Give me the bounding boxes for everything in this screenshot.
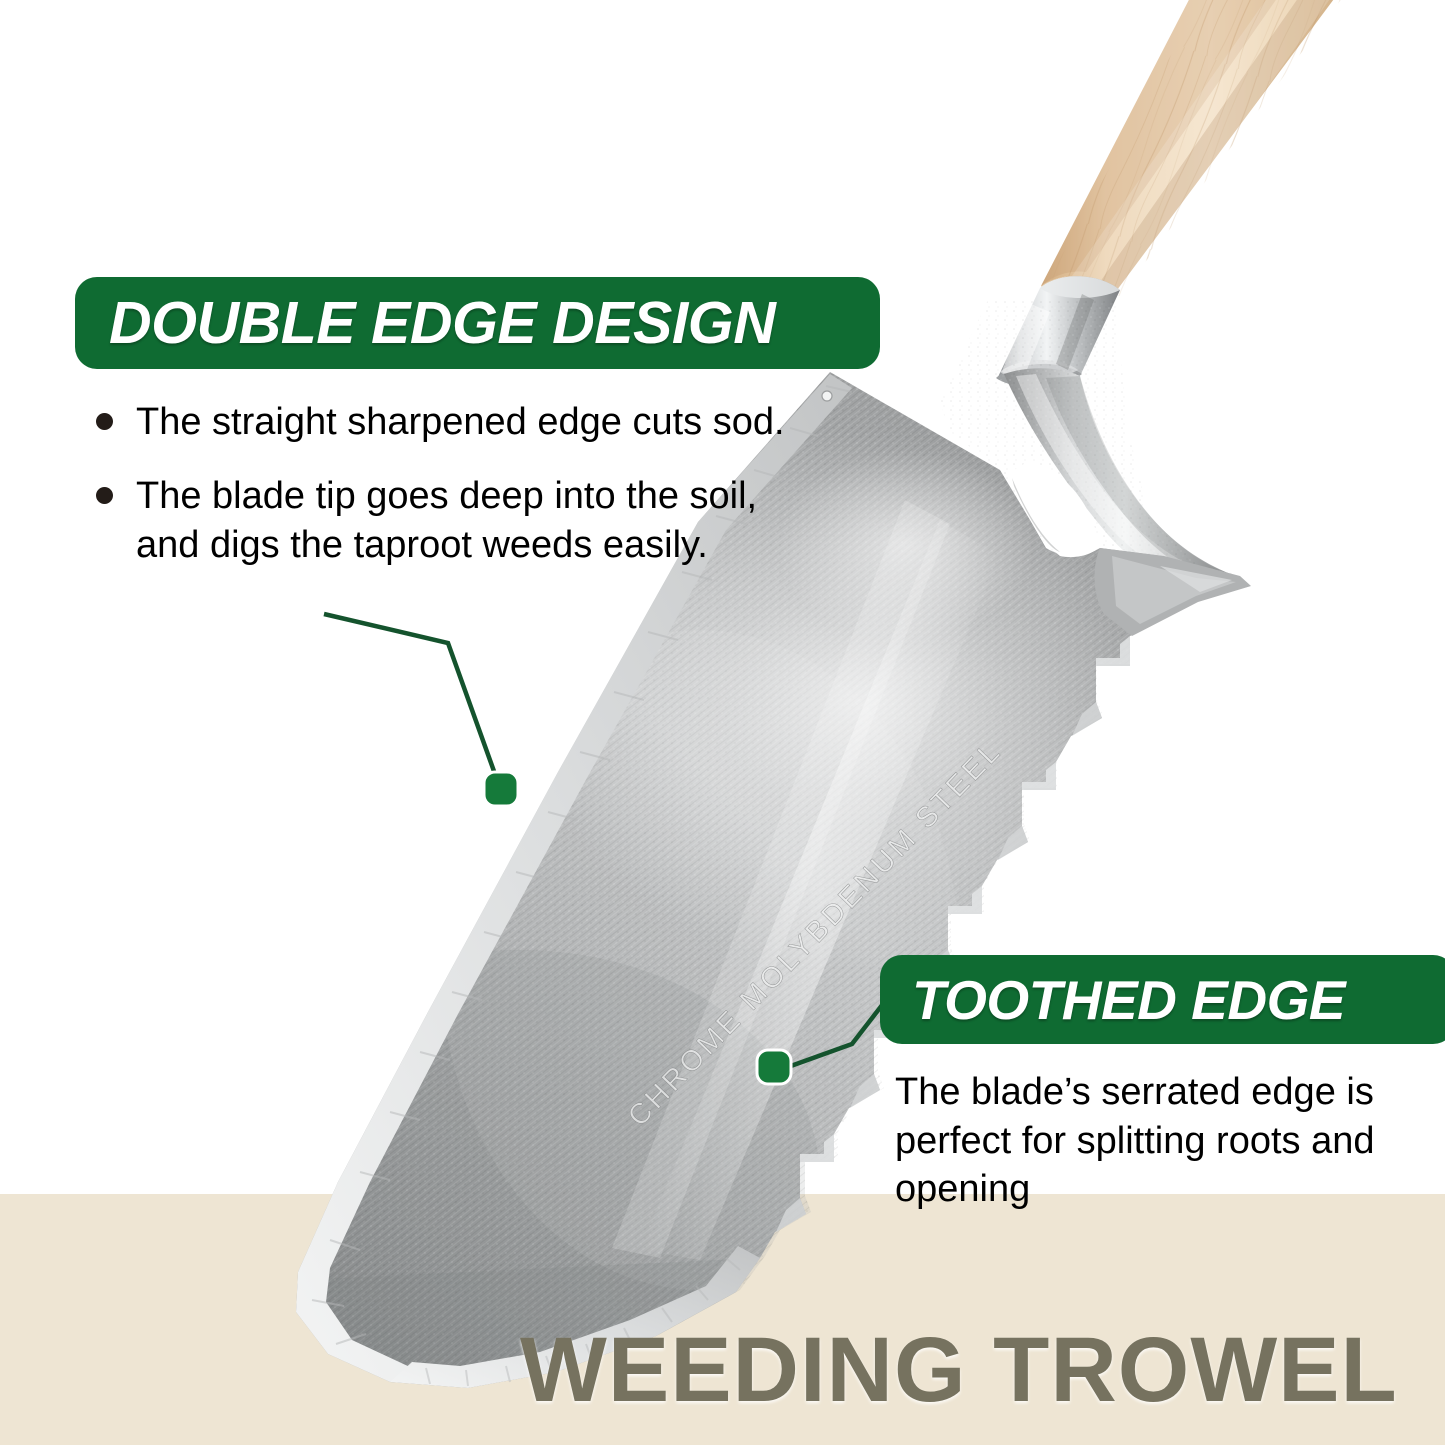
- list-item: The straight sharpened edge cuts sod.: [96, 398, 816, 446]
- bullet-dot-icon: [96, 413, 113, 430]
- toothed-edge-body-text: The blade’s serrated edge is perfect for…: [895, 1068, 1445, 1214]
- double-edge-bullet-list: The straight sharpened edge cuts sod. Th…: [96, 398, 816, 595]
- product-title: WEEDING TROWEL: [520, 1318, 1398, 1423]
- bullet-dot-icon: [96, 487, 113, 504]
- callout-heading-label: DOUBLE EDGE DESIGN: [109, 289, 775, 357]
- product-photo: CHROME MOLYBDENUM STEEL: [0, 0, 1445, 1445]
- infographic-canvas: CHROME MOLYBDENUM STEEL DOUBLE EDGE DESI…: [0, 0, 1445, 1445]
- bullet-text: The blade tip goes deep into the soil, a…: [136, 472, 816, 569]
- bullet-text: The straight sharpened edge cuts sod.: [136, 398, 785, 446]
- callout-heading-double-edge-design: DOUBLE EDGE DESIGN: [75, 277, 880, 369]
- list-item: The blade tip goes deep into the soil, a…: [96, 472, 816, 569]
- callout-heading-toothed-edge: TOOTHED EDGE: [880, 955, 1445, 1044]
- callout-heading-label: TOOTHED EDGE: [912, 968, 1345, 1032]
